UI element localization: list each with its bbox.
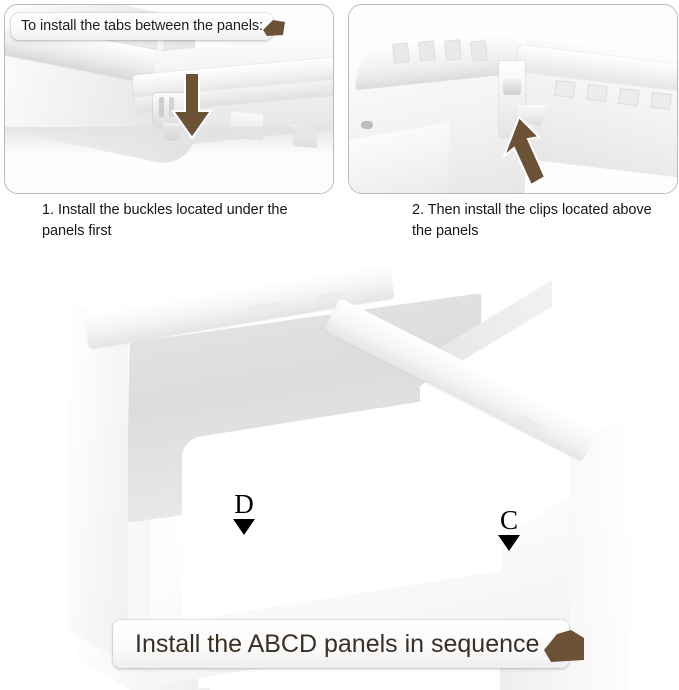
panel-vent-shape <box>392 42 410 64</box>
marker-c: C <box>498 508 520 551</box>
down-triangle-icon <box>498 535 520 551</box>
top-banner: To install the tabs between the panels: <box>11 13 273 40</box>
step-2-caption: 2. Then install the clips located above … <box>412 200 662 241</box>
brown-wedge-arrow-icon <box>541 626 587 664</box>
marker-d-label: D <box>234 492 254 517</box>
box-rim-top-right-shape <box>324 298 599 462</box>
photo-shadow-band <box>5 127 333 155</box>
panel-vent-shape <box>470 40 488 62</box>
marker-c-label: C <box>500 508 518 533</box>
top-banner-text: To install the tabs between the panels: <box>21 19 263 34</box>
panel-vent-shape <box>554 80 576 98</box>
panel-vent-shape <box>618 88 640 106</box>
box-rim-group <box>62 254 622 554</box>
bottom-banner-text: Install the ABCD panels in sequence <box>135 630 539 659</box>
panel-vent-shape <box>418 40 436 62</box>
bottom-banner: Install the ABCD panels in sequence <box>113 620 569 668</box>
panel-vent-shape <box>650 92 672 110</box>
brown-wedge-arrow-icon <box>261 17 287 37</box>
buckle-slot-shape <box>159 97 164 117</box>
down-triangle-icon <box>233 519 255 535</box>
step-1-photo-panel: To install the tabs between the panels: <box>4 4 334 194</box>
down-arrow-icon <box>171 71 213 141</box>
step-2-photo <box>349 5 677 193</box>
panel-knob-shape <box>361 121 373 129</box>
infographic-root: To install the tabs between the panels: <box>0 0 679 690</box>
clip-shape <box>503 79 521 95</box>
panel-vent-shape <box>444 39 462 61</box>
marker-d: D <box>233 492 255 535</box>
panel-vent-shape <box>586 84 608 102</box>
up-arrow-icon <box>495 115 555 191</box>
box-rim-left-shape <box>68 300 128 665</box>
step-1-caption: 1. Install the buckles located under the… <box>42 200 318 241</box>
step-2-photo-panel <box>348 4 678 194</box>
